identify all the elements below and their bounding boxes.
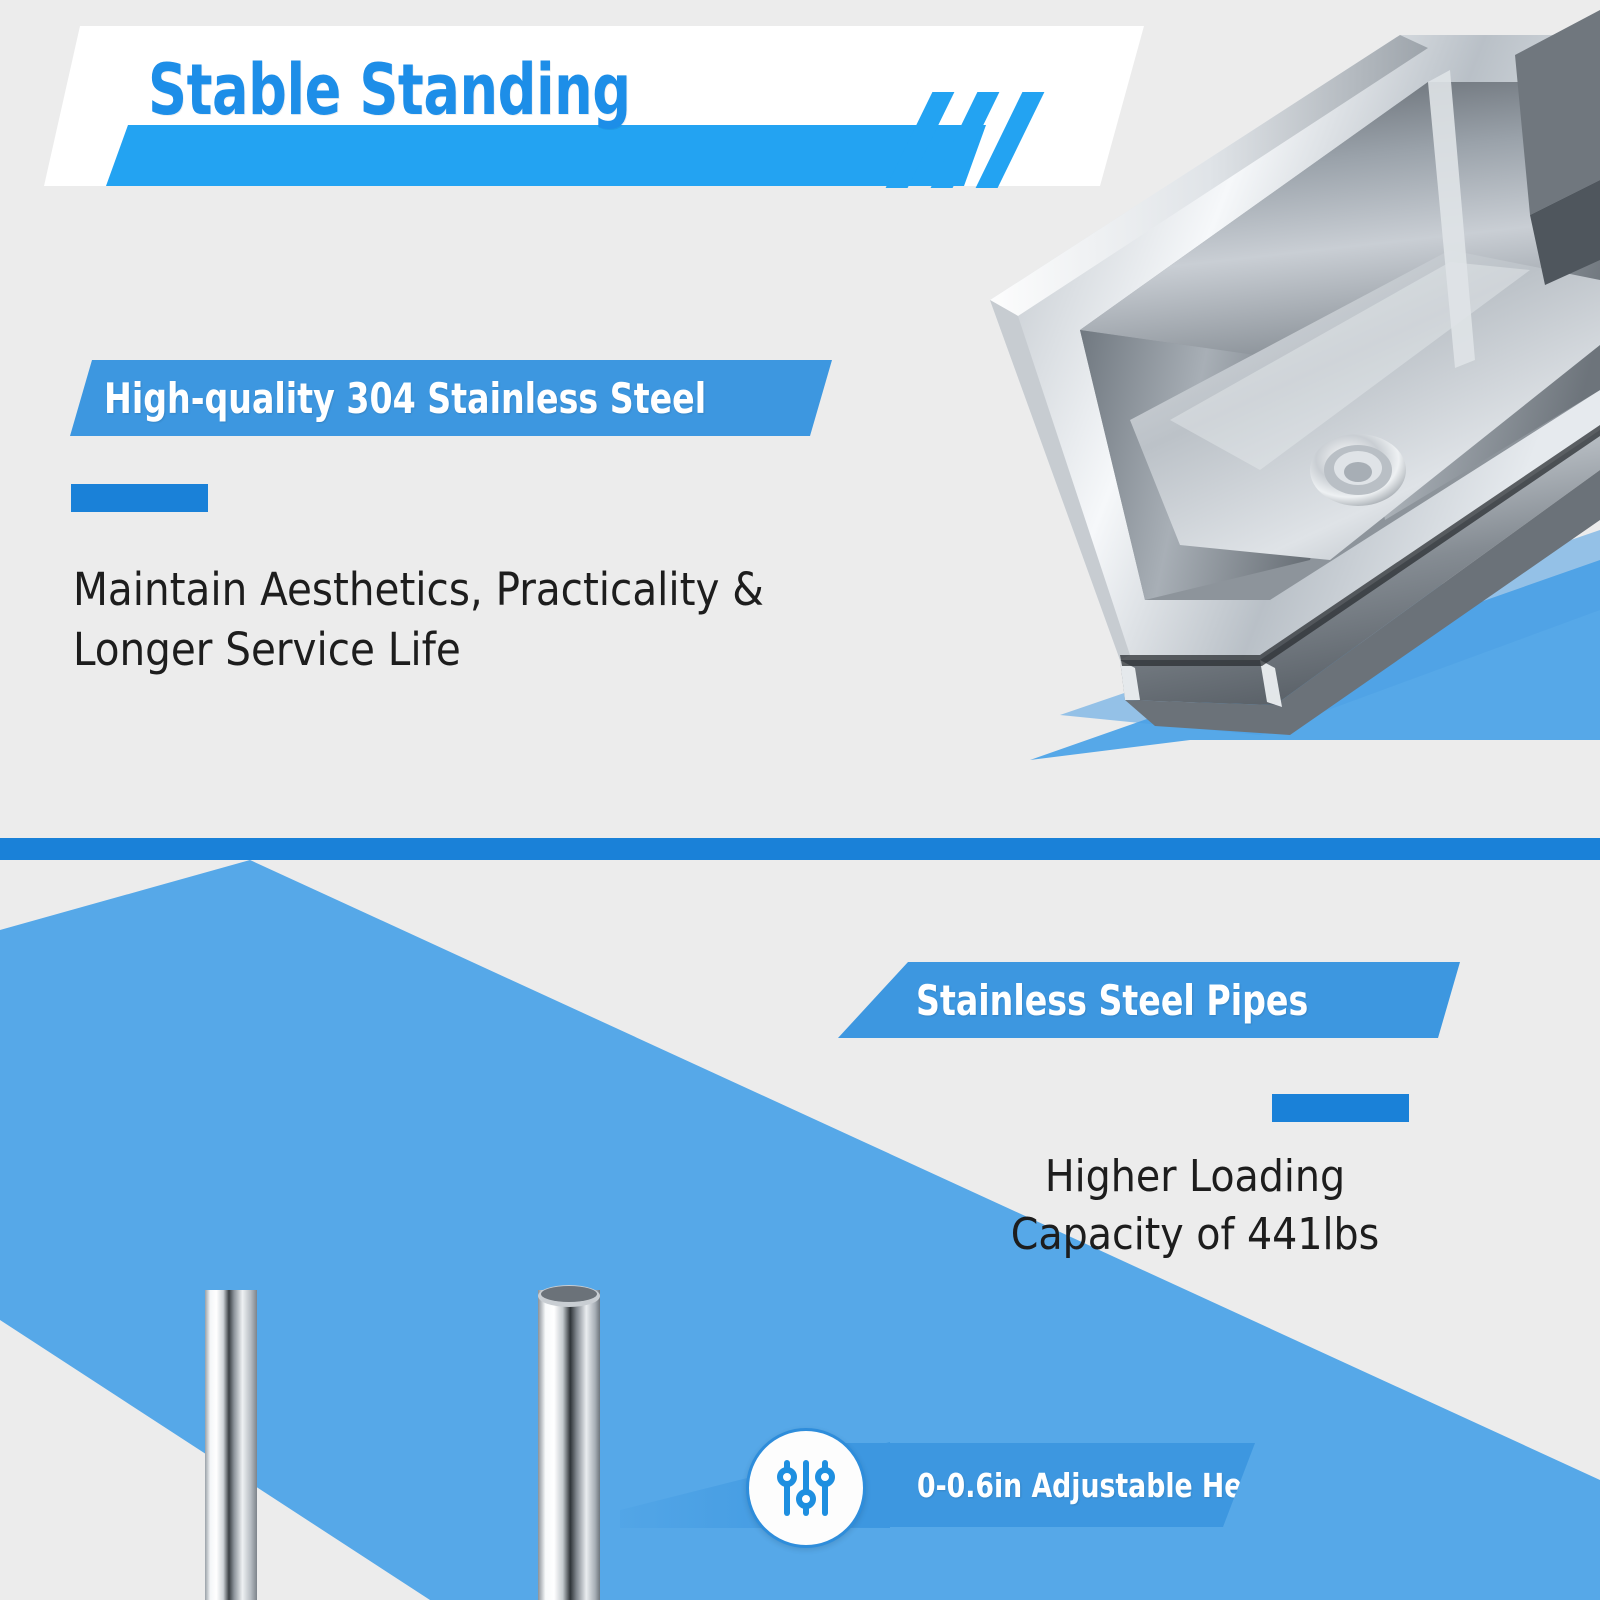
section-ribbon-label: Stainless Steel Pipes: [916, 976, 1308, 1025]
section-body-material: Maintain Aesthetics, Practicality & Long…: [73, 560, 913, 680]
section-ribbon-label: High-quality 304 Stainless Steel: [104, 374, 706, 423]
accent-dash-material: [71, 484, 208, 512]
diagonal-stripes-icon: [899, 92, 1079, 188]
page-title: Stable Standing: [148, 50, 631, 130]
section-divider: [0, 838, 1600, 860]
section-ribbon-pipes: Stainless Steel Pipes: [838, 962, 1460, 1038]
sliders-adjust-icon: [746, 1428, 866, 1548]
badge-label: 0-0.6in Adjustable Height: [917, 1466, 1302, 1505]
section-body-pipes: Higher Loading Capacity of 441lbs: [960, 1148, 1430, 1264]
header-banner-blue-bar: [106, 125, 986, 186]
drain-icon: [1310, 434, 1406, 506]
accent-dash-pipes: [1272, 1094, 1409, 1122]
header-banner: Stable Standing: [44, 26, 1144, 186]
infographic-canvas: Stable Standing High-quality 304 Stainle…: [0, 0, 1600, 1600]
adjustable-height-badge[interactable]: 0-0.6in Adjustable Height: [620, 1420, 1270, 1550]
section-ribbon-material: High-quality 304 Stainless Steel: [70, 360, 832, 436]
top-panel: Stable Standing High-quality 304 Stainle…: [0, 0, 1600, 838]
